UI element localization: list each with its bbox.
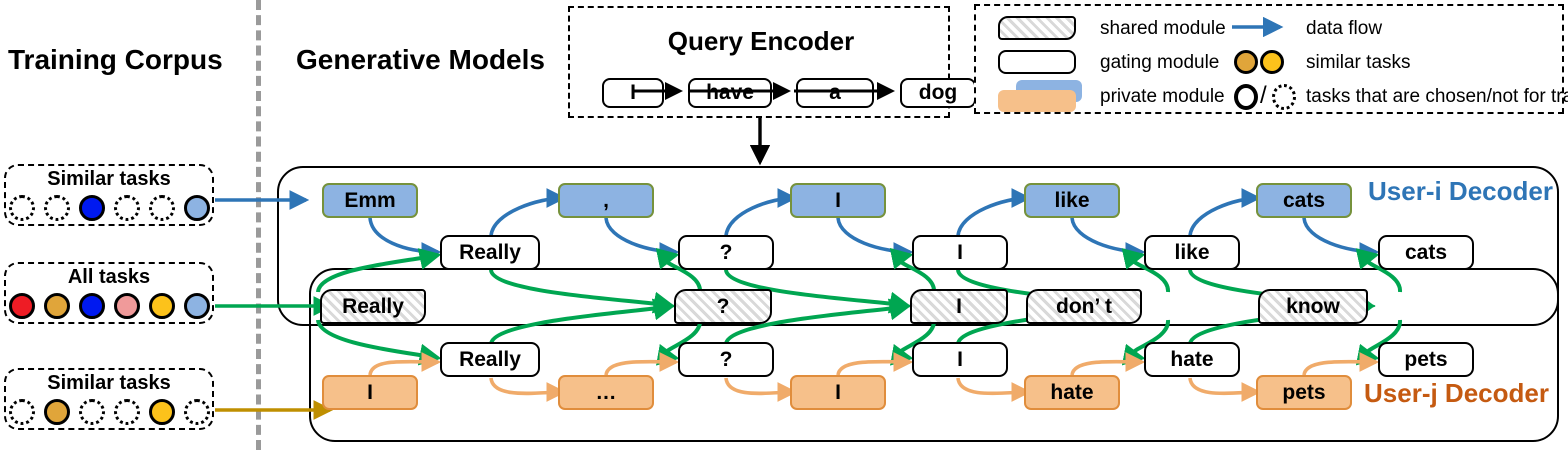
legend-label-data-flow: data flow (1306, 18, 1382, 40)
task-dot-list (9, 195, 210, 221)
shared-token[interactable]: know (1258, 289, 1368, 324)
user-j-decoder-label: User-j Decoder (1364, 378, 1549, 409)
similar-task-dot-icon (1260, 50, 1284, 74)
shared-module-swatch-icon (998, 16, 1076, 40)
query-token: have (688, 78, 772, 108)
legend-label-similar-tasks: similar tasks (1306, 52, 1411, 74)
task-dot (44, 293, 70, 319)
task-group-title: Similar tasks (47, 373, 170, 393)
legend-label-gating-module: gating module (1100, 52, 1219, 74)
query-token: dog (900, 78, 976, 108)
task-group-title: All tasks (68, 267, 150, 287)
user-i-gating-token[interactable]: ? (678, 235, 774, 270)
user-j-private-token[interactable]: … (558, 375, 654, 410)
similar-task-dot-icon (1234, 50, 1258, 74)
shared-token[interactable]: ? (674, 289, 772, 324)
user-j-private-token[interactable]: pets (1256, 375, 1352, 410)
query-token: I (602, 78, 664, 108)
task-dot (9, 399, 35, 425)
query-encoder-title: Query Encoder (570, 26, 952, 57)
private-module-orange-swatch-icon (998, 90, 1076, 112)
user-j-private-token[interactable]: hate (1024, 375, 1120, 410)
page-title-training-corpus: Training Corpus (8, 44, 223, 76)
shared-token[interactable]: Really (320, 289, 426, 324)
task-dot (149, 195, 175, 221)
shared-token[interactable]: I (910, 289, 1008, 324)
user-j-private-token[interactable]: I (790, 375, 886, 410)
task-dot (149, 293, 175, 319)
page-title-generative-models: Generative Models (296, 44, 545, 76)
user-i-private-token[interactable]: I (790, 183, 886, 218)
legend-label-private-module: private module (1100, 86, 1225, 108)
user-j-gating-token[interactable]: Really (440, 342, 540, 377)
task-group-title: Similar tasks (47, 169, 170, 189)
user-i-private-token[interactable]: Emm (322, 183, 418, 218)
user-i-gating-token[interactable]: like (1144, 235, 1240, 270)
not-chosen-task-circle-icon (1272, 84, 1296, 110)
task-dot (9, 293, 35, 319)
task-group-similar-tasks-user-j[interactable]: Similar tasks (4, 368, 214, 430)
diagram-canvas: Training Corpus Generative Models Simila… (0, 0, 1568, 450)
task-group-similar-tasks-user-i[interactable]: Similar tasks (4, 164, 214, 226)
task-dot (9, 195, 35, 221)
task-dot (184, 399, 210, 425)
user-i-decoder-label: User-i Decoder (1368, 176, 1553, 207)
legend-label-chosen-not-chosen: tasks that are chosen/not for training (1306, 86, 1568, 108)
task-dot-list (9, 293, 210, 319)
task-dot (79, 399, 105, 425)
query-encoder-panel: Query Encoder I have a dog (568, 6, 950, 118)
task-dot (114, 293, 140, 319)
task-dot (114, 399, 140, 425)
task-dot (44, 399, 70, 425)
user-i-gating-token[interactable]: cats (1378, 235, 1474, 270)
task-dot (184, 293, 210, 319)
user-j-private-token[interactable]: I (322, 375, 418, 410)
user-j-gating-token[interactable]: ? (678, 342, 774, 377)
legend-panel: shared module gating module private modu… (974, 4, 1564, 114)
user-i-gating-token[interactable]: Really (440, 235, 540, 270)
query-token: a (796, 78, 874, 108)
task-dot (44, 195, 70, 221)
task-group-all-tasks[interactable]: All tasks (4, 262, 214, 324)
section-divider (256, 0, 261, 450)
user-j-gating-token[interactable]: hate (1144, 342, 1240, 377)
shared-token[interactable]: don’ t (1026, 289, 1142, 324)
task-dot (184, 195, 210, 221)
user-i-private-token[interactable]: , (558, 183, 654, 218)
chosen-task-circle-icon (1234, 84, 1258, 110)
user-j-gating-token[interactable]: pets (1378, 342, 1474, 377)
task-dot (79, 293, 105, 319)
task-dot (149, 399, 175, 425)
user-j-gating-token[interactable]: I (912, 342, 1008, 377)
task-dot (114, 195, 140, 221)
gating-module-swatch-icon (998, 50, 1076, 74)
task-dot (79, 195, 105, 221)
data-flow-arrow-icon (1232, 18, 1294, 38)
task-dot-list (9, 399, 210, 425)
user-i-gating-token[interactable]: I (912, 235, 1008, 270)
user-i-private-token[interactable]: cats (1256, 183, 1352, 218)
user-i-private-token[interactable]: like (1024, 183, 1120, 218)
legend-label-shared-module: shared module (1100, 18, 1226, 40)
slash-separator: / (1260, 82, 1267, 110)
